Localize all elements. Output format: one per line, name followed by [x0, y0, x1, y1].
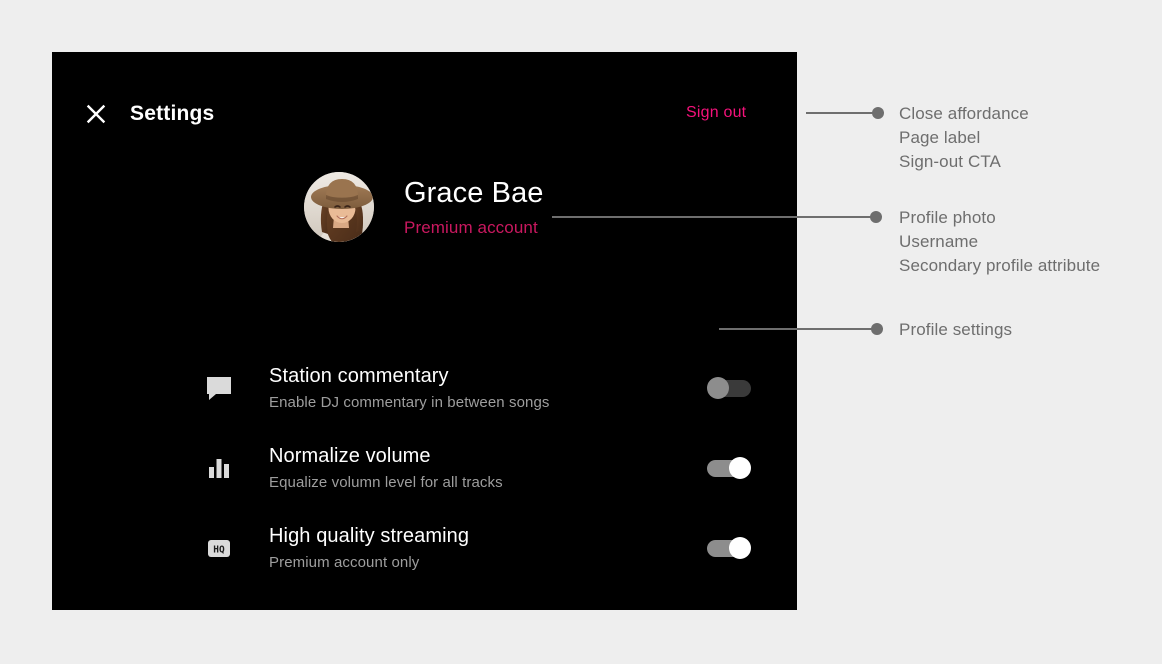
toggle-thumb [729, 537, 751, 559]
setting-title: High quality streaming [269, 524, 469, 549]
settings-list: Station commentary Enable DJ commentary … [52, 348, 797, 588]
comment-icon [202, 371, 236, 405]
toggle-station-commentary[interactable] [707, 377, 751, 399]
setting-labels: Station commentary Enable DJ commentary … [269, 364, 550, 413]
leader-line [806, 107, 886, 119]
equalizer-icon [202, 451, 236, 485]
settings-panel: Settings Sign out [52, 52, 797, 610]
annotation-line: Sign-out CTA [899, 150, 1001, 174]
leader-dot [870, 211, 882, 223]
setting-row-station-commentary[interactable]: Station commentary Enable DJ commentary … [52, 348, 797, 428]
toggle-normalize-volume[interactable] [707, 457, 751, 479]
setting-labels: High quality streaming Premium account o… [269, 524, 469, 573]
profile-photo-icon [304, 172, 374, 242]
setting-row-high-quality-streaming[interactable]: HQ High quality streaming Premium accoun… [52, 508, 797, 588]
annotation-line: Profile settings [899, 318, 1012, 342]
leader-dot [871, 323, 883, 335]
app-bar: Settings Sign out [52, 52, 797, 164]
profile-text: Grace Bae Premium account [404, 175, 544, 240]
close-button[interactable] [80, 98, 112, 130]
leader-stroke [552, 216, 872, 218]
profile-attribute: Premium account [404, 216, 544, 240]
setting-labels: Normalize volume Equalize volumn level f… [269, 444, 503, 493]
leader-line [719, 323, 885, 335]
toggle-thumb [707, 377, 729, 399]
annotation-line: Profile photo [899, 206, 996, 230]
leader-line [552, 211, 884, 223]
leader-dot [872, 107, 884, 119]
annotation-line: Username [899, 230, 978, 254]
setting-subtitle: Enable DJ commentary in between songs [269, 392, 550, 413]
setting-row-normalize-volume[interactable]: Normalize volume Equalize volumn level f… [52, 428, 797, 508]
avatar[interactable] [304, 172, 374, 242]
page-title: Settings [130, 99, 214, 129]
leader-stroke [719, 328, 873, 330]
setting-subtitle: Premium account only [269, 552, 469, 573]
setting-title: Normalize volume [269, 444, 503, 469]
close-icon [84, 102, 108, 126]
setting-title: Station commentary [269, 364, 550, 389]
svg-text:HQ: HQ [213, 544, 225, 555]
profile-username: Grace Bae [404, 175, 544, 211]
profile-row: Grace Bae Premium account [304, 172, 544, 242]
hq-icon: HQ [202, 531, 236, 565]
leader-stroke [806, 112, 874, 114]
annotation-line: Close affordance [899, 102, 1029, 126]
annotation-line: Page label [899, 126, 980, 150]
sign-out-button[interactable]: Sign out [686, 101, 746, 125]
toggle-high-quality-streaming[interactable] [707, 537, 751, 559]
setting-subtitle: Equalize volumn level for all tracks [269, 472, 503, 493]
annotation-line: Secondary profile attribute [899, 254, 1100, 278]
toggle-thumb [729, 457, 751, 479]
